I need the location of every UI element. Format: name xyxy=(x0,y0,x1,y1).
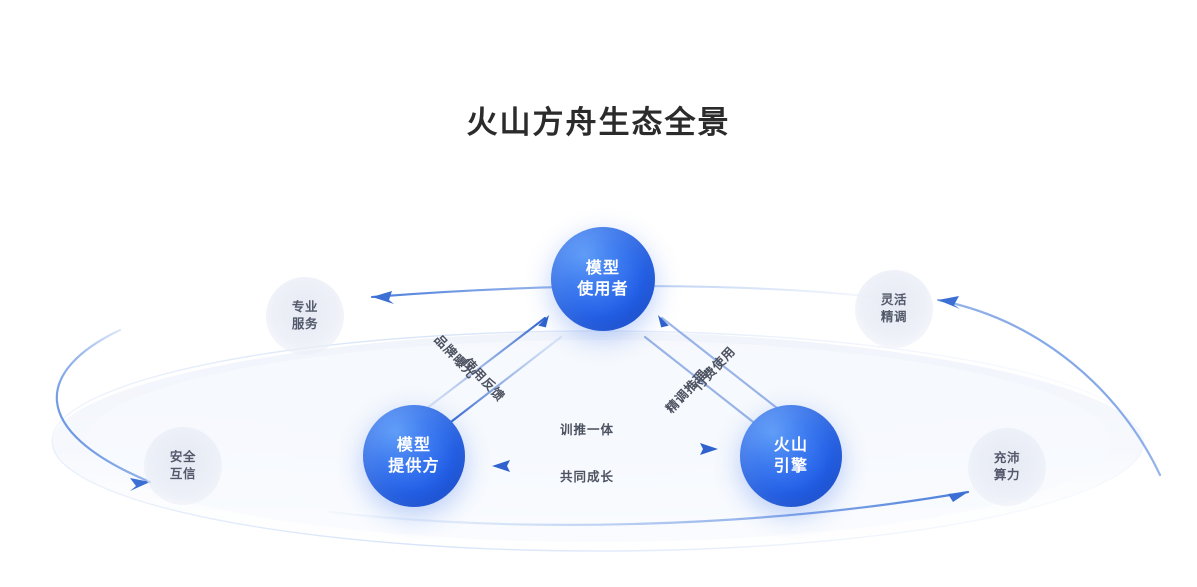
satellite-abundant-compute[interactable]: 充沛 算力 xyxy=(968,428,1046,506)
core-node-line-1: 模型 xyxy=(586,258,620,279)
satellite-line-1: 安全 xyxy=(170,449,196,466)
satellite-line-2: 互信 xyxy=(170,466,196,483)
core-node-line-2: 引擎 xyxy=(774,456,808,477)
satellite-line-2: 精调 xyxy=(881,309,907,326)
core-node-line-2: 提供方 xyxy=(388,456,440,477)
edge-label-grow-together: 共同成长 xyxy=(560,471,614,484)
core-node-model-user[interactable]: 模型 使用者 xyxy=(551,227,655,331)
satellite-line-2: 服务 xyxy=(292,316,318,333)
satellite-line-1: 充沛 xyxy=(994,450,1020,467)
core-node-line-1: 火山 xyxy=(774,435,808,456)
satellite-professional-service[interactable]: 专业 服务 xyxy=(266,277,344,355)
satellite-line-1: 专业 xyxy=(292,299,318,316)
core-node-line-2: 使用者 xyxy=(577,279,629,300)
satellite-flexible-finetune[interactable]: 灵活 精调 xyxy=(855,270,933,348)
core-node-line-1: 模型 xyxy=(397,435,431,456)
satellite-line-2: 算力 xyxy=(994,467,1020,484)
edge-label-train-infer-one: 训推一体 xyxy=(560,424,614,437)
core-node-volcano-engine[interactable]: 火山 引擎 xyxy=(740,405,842,507)
satellite-line-1: 灵活 xyxy=(881,292,907,309)
core-node-model-provider[interactable]: 模型 提供方 xyxy=(363,405,465,507)
satellite-secure-trust[interactable]: 安全 互信 xyxy=(144,427,222,505)
orbit-ring-inner xyxy=(86,340,1110,542)
diagram-canvas: 火山方舟生态全景 xyxy=(0,0,1197,587)
